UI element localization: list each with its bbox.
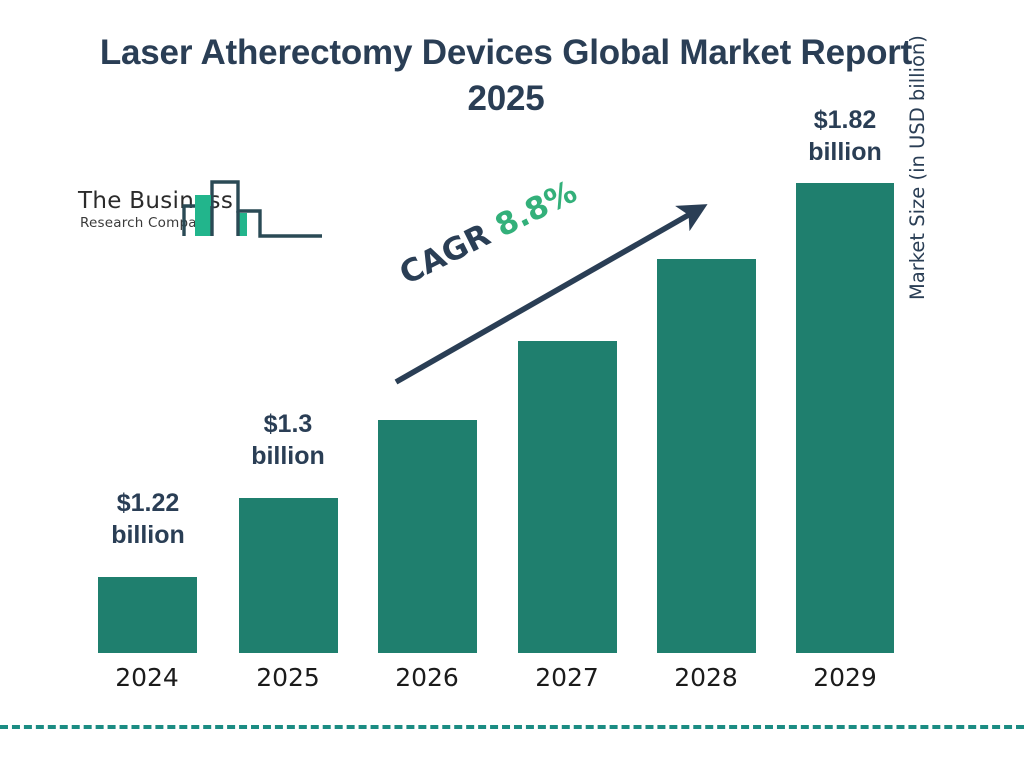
x-tick-2029: 2029 (775, 663, 915, 692)
x-tick-2026: 2026 (357, 663, 497, 692)
bottom-divider (0, 725, 1024, 729)
x-tick-2028: 2028 (636, 663, 776, 692)
x-tick-2025: 2025 (218, 663, 358, 692)
chart-page: Laser Atherectomy Devices Global Market … (0, 0, 1024, 768)
y-axis-title: Market Size (in USD billion) (906, 0, 929, 300)
bar-chart-plot: $1.22 billion $1.3 billion $1.82 billion… (0, 0, 1024, 768)
x-tick-2027: 2027 (497, 663, 637, 692)
x-tick-2024: 2024 (77, 663, 217, 692)
growth-arrow-icon (0, 0, 1024, 768)
